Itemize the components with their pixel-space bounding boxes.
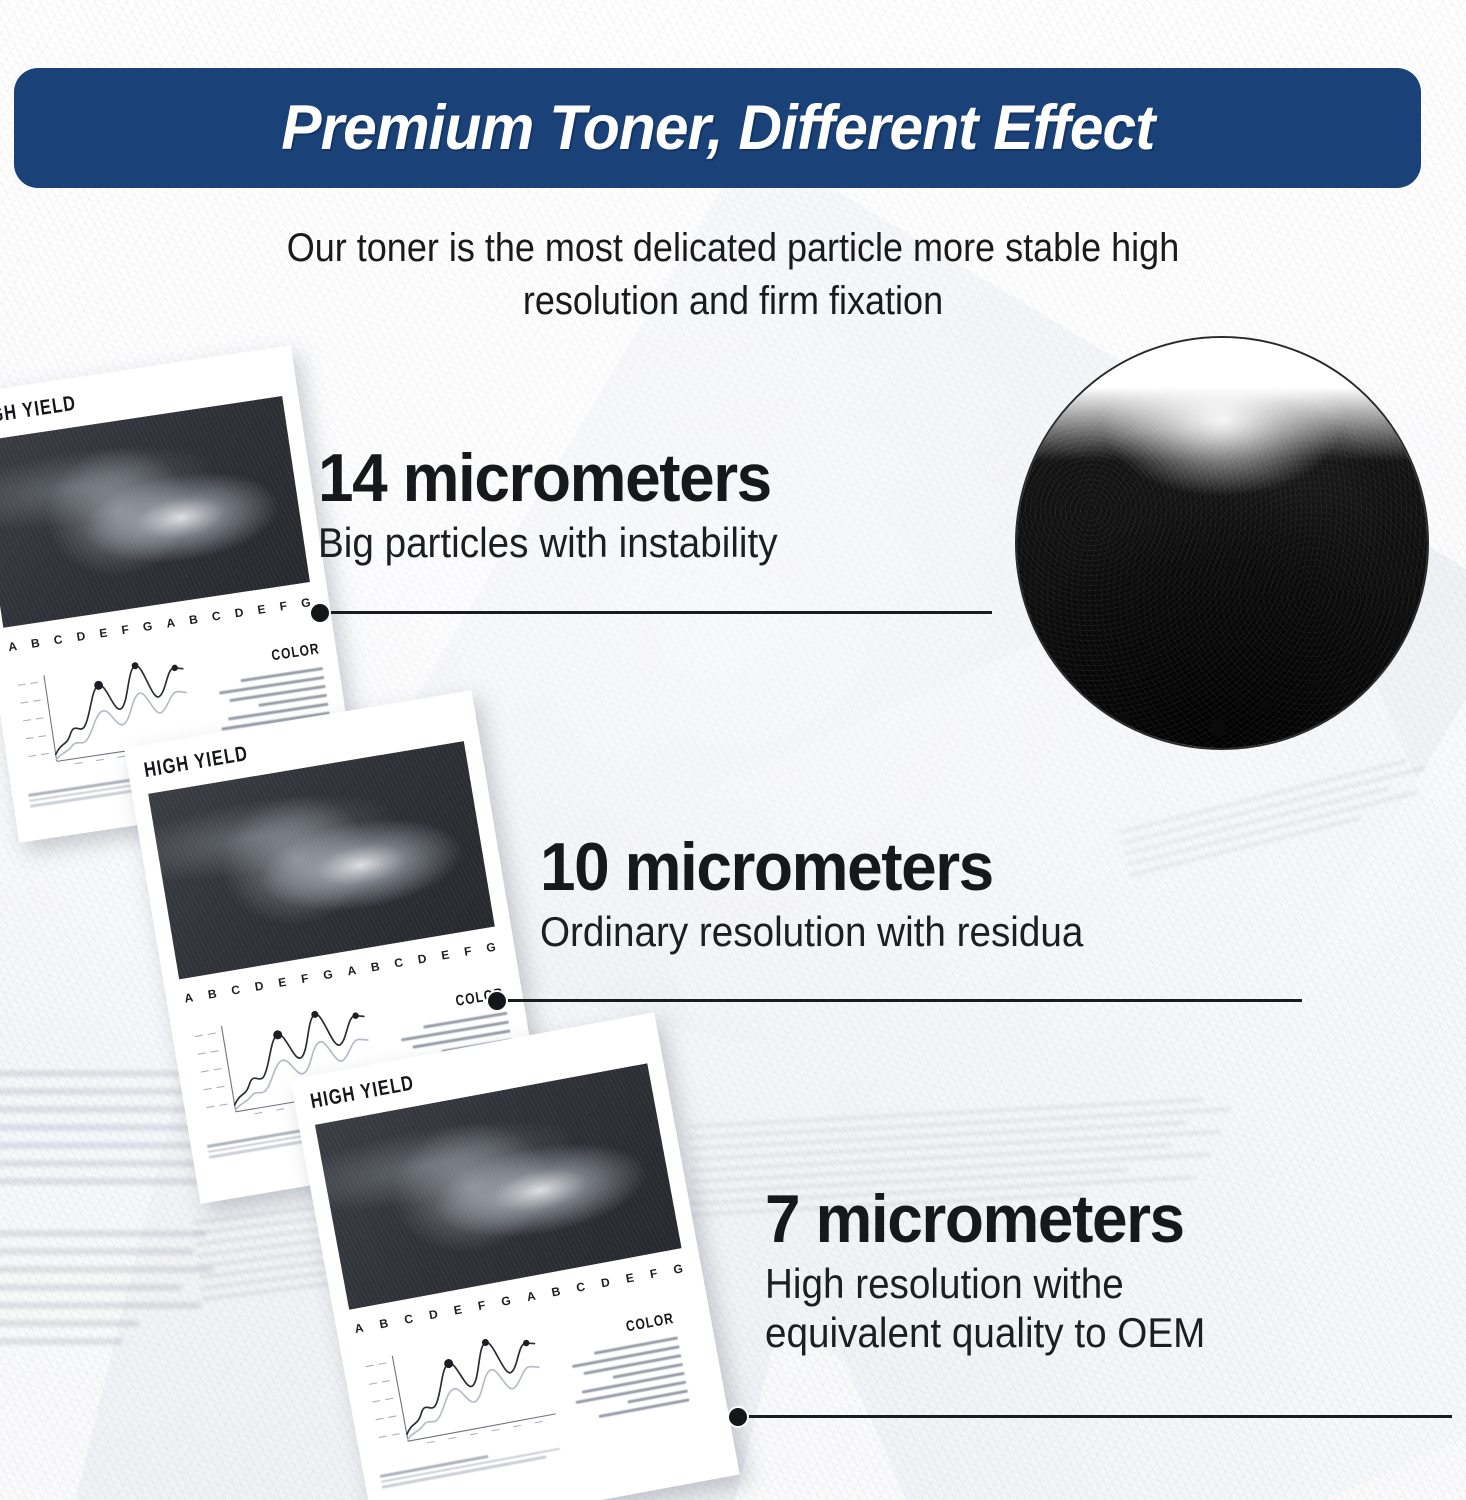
callout-7um: 7 micrometers High resolution withe equi… bbox=[765, 1184, 1244, 1358]
callout-description: Big particles with instability bbox=[318, 518, 778, 568]
letter: C bbox=[575, 1279, 587, 1294]
letter: B bbox=[188, 612, 199, 627]
subtitle-line-1: Our toner is the most delicated particle… bbox=[73, 222, 1392, 275]
letter: G bbox=[322, 967, 334, 982]
letter: D bbox=[600, 1275, 612, 1290]
letter: D bbox=[234, 605, 245, 620]
letter: A bbox=[7, 639, 18, 654]
subtitle: Our toner is the most delicated particle… bbox=[73, 222, 1392, 328]
letter: E bbox=[440, 947, 451, 962]
printed-sheet-3: HIGH YIELD A B C D E F G A B C D E F G bbox=[290, 1012, 739, 1500]
letter: E bbox=[453, 1302, 464, 1317]
callout-rule-7um bbox=[738, 1415, 1452, 1418]
letter: G bbox=[500, 1293, 512, 1309]
header-banner: Premium Toner, Different Effect bbox=[14, 68, 1421, 188]
callout-description-line-2: equivalent quality to OEM bbox=[765, 1308, 1205, 1358]
letter: B bbox=[207, 986, 218, 1001]
letter: G bbox=[142, 619, 154, 634]
background-text-block-upper-right bbox=[1118, 751, 1452, 884]
letter: E bbox=[256, 602, 266, 617]
letter: C bbox=[393, 955, 404, 970]
letter: F bbox=[120, 622, 130, 637]
letter: E bbox=[277, 975, 288, 990]
letter: A bbox=[165, 615, 176, 630]
letter: G bbox=[485, 940, 497, 955]
letter: C bbox=[230, 982, 241, 997]
toner-powder-spill bbox=[1017, 660, 1427, 746]
letter: A bbox=[183, 990, 194, 1005]
rule-dot-icon bbox=[488, 992, 506, 1010]
letter: A bbox=[346, 963, 357, 978]
callout-heading: 7 micrometers bbox=[765, 1184, 1215, 1255]
letter: D bbox=[417, 951, 428, 966]
callout-14um: 14 micrometers Big particles with instab… bbox=[318, 443, 818, 567]
letter: B bbox=[370, 959, 381, 974]
letter: G bbox=[672, 1261, 684, 1277]
subtitle-line-2: resolution and firm fixation bbox=[73, 275, 1392, 328]
letter: C bbox=[211, 609, 222, 624]
toner-powder-photo bbox=[1015, 336, 1429, 750]
sheet-hero-image bbox=[148, 741, 495, 979]
color-heading: COLOR bbox=[625, 1310, 676, 1336]
letter: E bbox=[98, 625, 108, 640]
letter: F bbox=[463, 944, 473, 959]
sheet-color-block: COLOR bbox=[554, 1294, 692, 1433]
callout-heading: 10 micrometers bbox=[540, 832, 1095, 903]
sheet-hero-image bbox=[0, 396, 310, 628]
callout-description-line-1: High resolution withe bbox=[765, 1259, 1205, 1309]
letter: A bbox=[354, 1321, 366, 1336]
letter: B bbox=[550, 1284, 562, 1299]
sheet-line-chart bbox=[357, 1317, 566, 1470]
callout-description: Ordinary resolution with residua bbox=[540, 907, 1083, 957]
letter: G bbox=[300, 595, 312, 610]
letter: D bbox=[428, 1307, 440, 1322]
letter: B bbox=[30, 636, 41, 651]
letter: C bbox=[53, 632, 64, 647]
rule-dot-icon bbox=[311, 604, 329, 622]
letter: D bbox=[254, 979, 265, 994]
callout-rule-14um bbox=[320, 611, 992, 614]
letter: F bbox=[477, 1298, 487, 1313]
color-heading: COLOR bbox=[271, 640, 322, 664]
callout-heading: 14 micrometers bbox=[318, 443, 788, 514]
background-text-block-left-lower bbox=[0, 1230, 230, 1356]
letter: F bbox=[300, 971, 310, 986]
letter: E bbox=[625, 1270, 636, 1285]
rule-dot-icon bbox=[729, 1408, 747, 1426]
letter: A bbox=[526, 1289, 538, 1304]
letter: F bbox=[649, 1266, 659, 1281]
letter: C bbox=[403, 1311, 415, 1326]
letter: B bbox=[378, 1316, 390, 1331]
letter: D bbox=[76, 629, 87, 644]
callout-10um: 10 micrometers Ordinary resolution with … bbox=[540, 832, 1131, 956]
callout-rule-10um bbox=[497, 999, 1302, 1002]
infographic-canvas: Premium Toner, Different Effect Our tone… bbox=[0, 0, 1466, 1500]
letter: F bbox=[279, 599, 289, 614]
page-title: Premium Toner, Different Effect bbox=[281, 92, 1154, 164]
